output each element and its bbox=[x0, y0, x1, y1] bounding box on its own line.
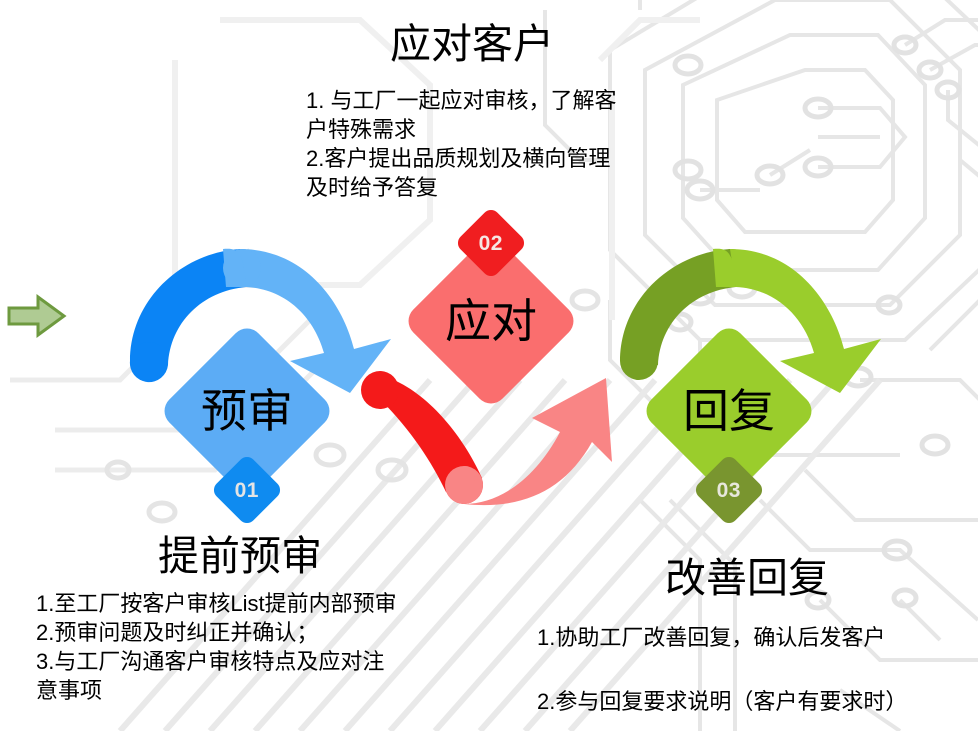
step-2-body: 1. 与工厂一起应对审核，了解客 户特殊需求 2.客户提出品质规划及横向管理 及… bbox=[306, 86, 676, 202]
step-2-badge-number: 02 bbox=[479, 232, 503, 253]
step-1-badge-number: 01 bbox=[235, 479, 259, 500]
step-3-body: 1.协助工厂改善回复，确认后发客户 2.参与回复要求说明（客户有要求时） bbox=[537, 622, 967, 718]
step-2-heading: 应对客户 bbox=[390, 22, 554, 67]
start-right-arrow-icon bbox=[6, 292, 68, 340]
step-1-body: 1.至工厂按客户审核List提前内部预审 2.预审问题及时纠正并确认； 3.与工… bbox=[36, 589, 466, 705]
step-3-diamond-label: 回复 bbox=[683, 388, 775, 434]
step-1-heading: 提前预审 bbox=[158, 534, 322, 579]
step-3-heading: 改善回复 bbox=[665, 556, 829, 601]
step-1-diamond-label: 预审 bbox=[201, 388, 293, 434]
step-3-badge-number: 03 bbox=[717, 479, 741, 500]
slide-canvas: 预审 01 应对 02 回复 03 应对客户 1. 与工厂一起应对审核，了解客 … bbox=[0, 0, 978, 731]
step-2-diamond-label: 应对 bbox=[445, 298, 537, 344]
